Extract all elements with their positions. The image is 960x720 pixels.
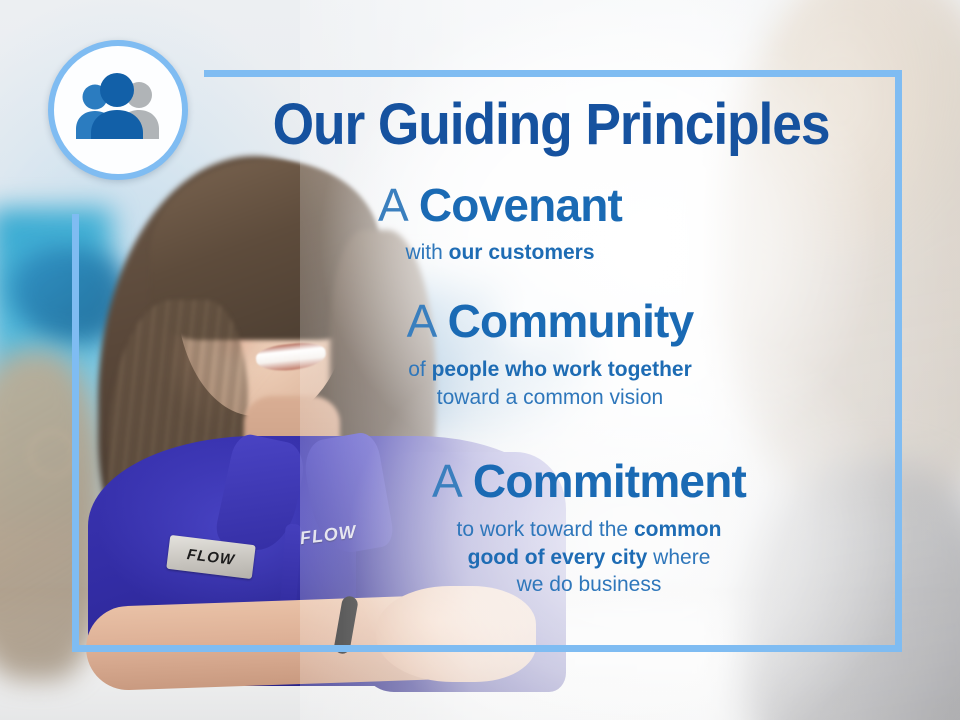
principle-keyword: Community [448, 295, 694, 347]
guiding-principles-poster: FLOW FLOW Our Guiding Principles [0, 0, 960, 720]
frame-border-left [72, 214, 79, 652]
principle-title-covenant: A Covenant [240, 182, 760, 230]
people-group-icon [66, 73, 170, 147]
principle-subtitle-commitment: to work toward the commongood of every c… [300, 516, 878, 599]
frame-border-right [895, 70, 902, 652]
principle-block-covenant: A Covenant with our customers [240, 182, 760, 267]
principle-subtitle-covenant: with our customers [240, 239, 760, 267]
principle-article: A [407, 295, 448, 347]
principle-article: A [432, 455, 473, 507]
frame-border-bottom [72, 645, 902, 652]
principle-keyword: Covenant [419, 179, 622, 231]
principle-title-commitment: A Commitment [300, 458, 878, 506]
principle-subtitle-community: of people who work togethertoward a comm… [280, 356, 820, 411]
frame-border-top [204, 70, 902, 77]
principle-block-community: A Community of people who work togethert… [280, 298, 820, 411]
people-badge [48, 40, 188, 180]
flow-name-badge-text: FLOW [186, 547, 236, 568]
page-title: Our Guiding Principles [234, 96, 869, 154]
principle-article: A [378, 179, 419, 231]
principle-block-commitment: A Commitment to work toward the commongo… [300, 458, 878, 599]
principle-keyword: Commitment [473, 455, 746, 507]
subject-hands [376, 586, 536, 682]
principle-title-community: A Community [280, 298, 820, 346]
